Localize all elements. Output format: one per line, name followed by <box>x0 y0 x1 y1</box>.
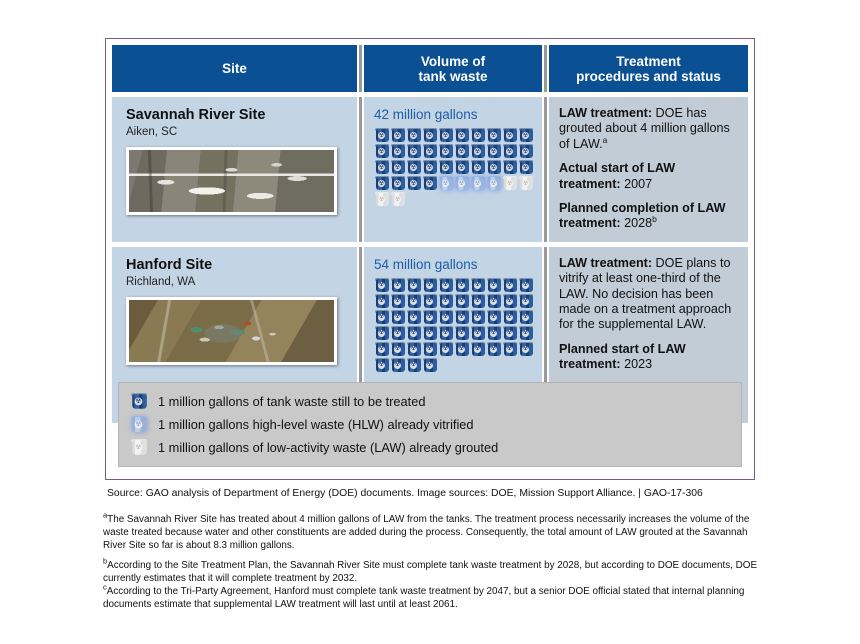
header-divider-2 <box>542 45 549 92</box>
radiation-trefoil-icon: ☢ <box>135 397 143 405</box>
tank-untreated-icon: ☢ <box>406 128 422 143</box>
tank-law-icon: ☢ <box>130 439 148 456</box>
tank-untreated-icon: ☢ <box>502 144 518 159</box>
tank-untreated-icon: ☢ <box>374 326 390 341</box>
radiation-trefoil-icon: ☢ <box>474 164 481 171</box>
radiation-trefoil-icon: ☢ <box>426 346 433 353</box>
tank-untreated-icon: ☢ <box>374 160 390 175</box>
radiation-trefoil-icon: ☢ <box>490 148 497 155</box>
tank-untreated-icon: ☢ <box>422 160 438 175</box>
radiation-trefoil-icon: ☢ <box>474 330 481 337</box>
radiation-trefoil-icon: ☢ <box>522 164 529 171</box>
radiation-trefoil-icon: ☢ <box>474 314 481 321</box>
tank-untreated-icon: ☢ <box>454 128 470 143</box>
site-photo-hanford <box>126 297 337 365</box>
radiation-trefoil-icon: ☢ <box>490 314 497 321</box>
radiation-trefoil-icon: ☢ <box>490 164 497 171</box>
tank-untreated-icon: ☢ <box>454 294 470 309</box>
radiation-trefoil-icon: ☢ <box>426 282 433 289</box>
radiation-trefoil-icon: ☢ <box>394 180 401 187</box>
tank-untreated-icon: ☢ <box>502 278 518 293</box>
tank-untreated-icon: ☢ <box>422 278 438 293</box>
header-divider-1 <box>357 45 364 92</box>
radiation-trefoil-icon: ☢ <box>378 180 385 187</box>
volume-label: 42 million gallons <box>374 107 536 123</box>
tank-untreated-icon: ☢ <box>438 342 454 357</box>
tank-untreated-icon: ☢ <box>374 342 390 357</box>
radiation-trefoil-icon: ☢ <box>394 164 401 171</box>
footnote-marker: b <box>652 214 657 224</box>
radiation-trefoil-icon: ☢ <box>458 330 465 337</box>
radiation-trefoil-icon: ☢ <box>394 132 401 139</box>
radiation-trefoil-icon: ☢ <box>394 196 401 203</box>
tank-untreated-icon: ☢ <box>518 294 534 309</box>
footnote: bAccording to the Site Treatment Plan, t… <box>103 559 758 585</box>
tank-untreated-icon: ☢ <box>374 294 390 309</box>
footnote-marker: a <box>603 135 608 145</box>
radiation-trefoil-icon: ☢ <box>474 298 481 305</box>
tank-untreated-icon: ☢ <box>486 326 502 341</box>
treatment-item: Actual start of LAW treatment: 2007 <box>559 161 736 192</box>
legend-wrapper: ☢1 million gallons of tank waste still t… <box>118 382 742 467</box>
tank-untreated-icon: ☢ <box>130 393 148 410</box>
tank-untreated-icon: ☢ <box>406 326 422 341</box>
tank-law-icon: ☢ <box>502 176 518 191</box>
radiation-trefoil-icon: ☢ <box>490 132 497 139</box>
tank-untreated-icon: ☢ <box>470 160 486 175</box>
tank-hlw-icon: ☢ <box>486 176 502 191</box>
tank-untreated-icon: ☢ <box>518 160 534 175</box>
radiation-trefoil-icon: ☢ <box>442 164 449 171</box>
radiation-trefoil-icon: ☢ <box>410 148 417 155</box>
tank-untreated-icon: ☢ <box>438 128 454 143</box>
radiation-trefoil-icon: ☢ <box>426 180 433 187</box>
radiation-trefoil-icon: ☢ <box>506 314 513 321</box>
tank-law-icon: ☢ <box>518 176 534 191</box>
tank-untreated-icon: ☢ <box>486 342 502 357</box>
tank-untreated-icon: ☢ <box>422 144 438 159</box>
tank-untreated-icon: ☢ <box>390 342 406 357</box>
radiation-trefoil-icon: ☢ <box>426 314 433 321</box>
treatment-item-value: 2028 <box>621 216 653 230</box>
footnote-text: According to the Site Treatment Plan, th… <box>103 560 757 584</box>
treatment-item: LAW treatment: DOE plans to vitrify at l… <box>559 256 736 333</box>
tank-untreated-icon: ☢ <box>406 278 422 293</box>
tank-untreated-icon: ☢ <box>502 160 518 175</box>
tank-untreated-icon: ☢ <box>518 326 534 341</box>
footnote-text: According to the Tri-Party Agreement, Ha… <box>103 586 744 610</box>
gao-figure-frame: Site Volume of tank waste Treatment proc… <box>105 38 755 480</box>
radiation-trefoil-icon: ☢ <box>506 148 513 155</box>
radiation-trefoil-icon: ☢ <box>506 132 513 139</box>
radiation-trefoil-icon: ☢ <box>410 298 417 305</box>
tank-untreated-icon: ☢ <box>454 326 470 341</box>
radiation-trefoil-icon: ☢ <box>378 330 385 337</box>
row-divider-2 <box>542 97 549 242</box>
radiation-trefoil-icon: ☢ <box>490 282 497 289</box>
radiation-trefoil-icon: ☢ <box>522 282 529 289</box>
tank-untreated-icon: ☢ <box>406 310 422 325</box>
tank-untreated-icon: ☢ <box>454 144 470 159</box>
site-location: Richland, WA <box>126 275 345 289</box>
tank-untreated-icon: ☢ <box>470 326 486 341</box>
tank-untreated-icon: ☢ <box>390 294 406 309</box>
column-header-treatment-line2: procedures and status <box>576 69 721 84</box>
legend-item: ☢1 million gallons high-level waste (HLW… <box>131 413 731 436</box>
radiation-trefoil-icon: ☢ <box>474 346 481 353</box>
tank-untreated-icon: ☢ <box>470 128 486 143</box>
tank-icon-grid: ☢☢☢☢☢☢☢☢☢☢☢☢☢☢☢☢☢☢☢☢☢☢☢☢☢☢☢☢☢☢☢☢☢☢☢☢☢☢☢☢… <box>374 278 534 374</box>
legend-item: ☢1 million gallons of low-activity waste… <box>131 436 731 459</box>
radiation-trefoil-icon: ☢ <box>378 132 385 139</box>
radiation-trefoil-icon: ☢ <box>410 330 417 337</box>
tank-untreated-icon: ☢ <box>374 128 390 143</box>
radiation-trefoil-icon: ☢ <box>522 148 529 155</box>
source-line: Source: GAO analysis of Department of En… <box>107 487 807 500</box>
tank-untreated-icon: ☢ <box>390 144 406 159</box>
tank-untreated-icon: ☢ <box>390 310 406 325</box>
tank-untreated-icon: ☢ <box>518 310 534 325</box>
tank-untreated-icon: ☢ <box>374 144 390 159</box>
tank-untreated-icon: ☢ <box>486 278 502 293</box>
radiation-trefoil-icon: ☢ <box>442 298 449 305</box>
footnote: cAccording to the Tri-Party Agreement, H… <box>103 585 758 611</box>
tank-untreated-icon: ☢ <box>422 128 438 143</box>
radiation-trefoil-icon: ☢ <box>426 298 433 305</box>
legend-item-label: 1 million gallons of tank waste still to… <box>158 394 425 409</box>
radiation-trefoil-icon: ☢ <box>506 346 513 353</box>
radiation-trefoil-icon: ☢ <box>458 132 465 139</box>
tank-untreated-icon: ☢ <box>438 294 454 309</box>
radiation-trefoil-icon: ☢ <box>135 420 143 428</box>
radiation-trefoil-icon: ☢ <box>378 298 385 305</box>
tank-untreated-icon: ☢ <box>390 278 406 293</box>
table-header-row: Site Volume of tank waste Treatment proc… <box>112 45 748 92</box>
radiation-trefoil-icon: ☢ <box>426 164 433 171</box>
radiation-trefoil-icon: ☢ <box>378 346 385 353</box>
tank-untreated-icon: ☢ <box>470 278 486 293</box>
tank-untreated-icon: ☢ <box>374 310 390 325</box>
tank-untreated-icon: ☢ <box>374 278 390 293</box>
radiation-trefoil-icon: ☢ <box>522 314 529 321</box>
radiation-trefoil-icon: ☢ <box>135 443 143 451</box>
tank-untreated-icon: ☢ <box>438 310 454 325</box>
radiation-trefoil-icon: ☢ <box>490 298 497 305</box>
tank-untreated-icon: ☢ <box>422 358 438 373</box>
radiation-trefoil-icon: ☢ <box>378 164 385 171</box>
radiation-trefoil-icon: ☢ <box>442 282 449 289</box>
tank-law-icon: ☢ <box>374 192 390 207</box>
tank-hlw-icon: ☢ <box>454 176 470 191</box>
tank-untreated-icon: ☢ <box>406 160 422 175</box>
tank-icon-grid: ☢☢☢☢☢☢☢☢☢☢☢☢☢☢☢☢☢☢☢☢☢☢☢☢☢☢☢☢☢☢☢☢☢☢☢☢☢☢☢☢… <box>374 128 534 208</box>
legend-item: ☢1 million gallons of tank waste still t… <box>131 390 731 413</box>
radiation-trefoil-icon: ☢ <box>426 330 433 337</box>
figure-page: Site Volume of tank waste Treatment proc… <box>0 0 860 644</box>
radiation-trefoil-icon: ☢ <box>522 180 529 187</box>
tank-untreated-icon: ☢ <box>422 176 438 191</box>
radiation-trefoil-icon: ☢ <box>522 298 529 305</box>
tank-untreated-icon: ☢ <box>406 342 422 357</box>
tank-untreated-icon: ☢ <box>518 128 534 143</box>
tank-untreated-icon: ☢ <box>390 176 406 191</box>
radiation-trefoil-icon: ☢ <box>410 314 417 321</box>
radiation-trefoil-icon: ☢ <box>442 314 449 321</box>
radiation-trefoil-icon: ☢ <box>506 164 513 171</box>
radiation-trefoil-icon: ☢ <box>442 148 449 155</box>
footnote-text: The Savannah River Site has treated abou… <box>103 514 749 551</box>
column-header-site: Site <box>112 45 357 92</box>
volume-cell: 42 million gallons ☢☢☢☢☢☢☢☢☢☢☢☢☢☢☢☢☢☢☢☢☢… <box>364 97 542 242</box>
tank-untreated-icon: ☢ <box>518 342 534 357</box>
treatment-item-value: 2007 <box>621 177 653 191</box>
tank-untreated-icon: ☢ <box>454 278 470 293</box>
radiation-trefoil-icon: ☢ <box>378 362 385 369</box>
tank-untreated-icon: ☢ <box>454 310 470 325</box>
tank-untreated-icon: ☢ <box>454 342 470 357</box>
tank-untreated-icon: ☢ <box>470 144 486 159</box>
site-location: Aiken, SC <box>126 125 345 139</box>
tank-untreated-icon: ☢ <box>422 342 438 357</box>
site-name: Hanford Site <box>126 257 345 274</box>
radiation-trefoil-icon: ☢ <box>490 346 497 353</box>
tank-untreated-icon: ☢ <box>502 342 518 357</box>
tank-untreated-icon: ☢ <box>502 326 518 341</box>
radiation-trefoil-icon: ☢ <box>490 330 497 337</box>
legend: ☢1 million gallons of tank waste still t… <box>118 382 742 467</box>
tank-untreated-icon: ☢ <box>390 358 406 373</box>
radiation-trefoil-icon: ☢ <box>410 282 417 289</box>
footnote: aThe Savannah River Site has treated abo… <box>103 513 758 553</box>
tank-untreated-icon: ☢ <box>502 128 518 143</box>
treatment-item-value: 2023 <box>621 357 653 371</box>
tank-untreated-icon: ☢ <box>390 326 406 341</box>
radiation-trefoil-icon: ☢ <box>410 132 417 139</box>
tank-untreated-icon: ☢ <box>406 358 422 373</box>
footnotes: aThe Savannah River Site has treated abo… <box>103 513 758 611</box>
radiation-trefoil-icon: ☢ <box>378 314 385 321</box>
site-photo-savannah-river <box>126 147 337 215</box>
tank-untreated-icon: ☢ <box>486 144 502 159</box>
legend-item-label: 1 million gallons of low-activity waste … <box>158 440 498 455</box>
tank-untreated-icon: ☢ <box>438 326 454 341</box>
row-divider-1 <box>357 97 364 242</box>
radiation-trefoil-icon: ☢ <box>474 132 481 139</box>
radiation-trefoil-icon: ☢ <box>426 362 433 369</box>
radiation-trefoil-icon: ☢ <box>522 132 529 139</box>
tank-untreated-icon: ☢ <box>470 294 486 309</box>
tank-untreated-icon: ☢ <box>486 310 502 325</box>
tank-law-icon: ☢ <box>390 192 406 207</box>
radiation-trefoil-icon: ☢ <box>410 362 417 369</box>
tank-untreated-icon: ☢ <box>486 294 502 309</box>
tank-untreated-icon: ☢ <box>502 294 518 309</box>
radiation-trefoil-icon: ☢ <box>394 148 401 155</box>
tank-hlw-icon: ☢ <box>470 176 486 191</box>
radiation-trefoil-icon: ☢ <box>394 314 401 321</box>
site-name: Savannah River Site <box>126 107 345 124</box>
volume-label: 54 million gallons <box>374 257 536 273</box>
radiation-trefoil-icon: ☢ <box>474 180 481 187</box>
tank-hlw-icon: ☢ <box>130 416 148 433</box>
radiation-trefoil-icon: ☢ <box>458 148 465 155</box>
radiation-trefoil-icon: ☢ <box>394 346 401 353</box>
radiation-trefoil-icon: ☢ <box>506 282 513 289</box>
tank-untreated-icon: ☢ <box>422 326 438 341</box>
tank-untreated-icon: ☢ <box>438 278 454 293</box>
tank-untreated-icon: ☢ <box>406 176 422 191</box>
tank-untreated-icon: ☢ <box>518 278 534 293</box>
column-header-volume-line1: Volume of <box>421 54 485 69</box>
radiation-trefoil-icon: ☢ <box>442 330 449 337</box>
radiation-trefoil-icon: ☢ <box>442 346 449 353</box>
radiation-trefoil-icon: ☢ <box>378 282 385 289</box>
radiation-trefoil-icon: ☢ <box>458 298 465 305</box>
site-cell: Savannah River Site Aiken, SC <box>112 97 357 242</box>
radiation-trefoil-icon: ☢ <box>458 282 465 289</box>
column-header-treatment: Treatment procedures and status <box>549 45 748 92</box>
radiation-trefoil-icon: ☢ <box>378 196 385 203</box>
radiation-trefoil-icon: ☢ <box>458 180 465 187</box>
radiation-trefoil-icon: ☢ <box>458 314 465 321</box>
radiation-trefoil-icon: ☢ <box>522 330 529 337</box>
radiation-trefoil-icon: ☢ <box>522 346 529 353</box>
radiation-trefoil-icon: ☢ <box>410 180 417 187</box>
radiation-trefoil-icon: ☢ <box>410 164 417 171</box>
treatment-item-label: Actual start of LAW treatment: <box>559 161 675 190</box>
tank-untreated-icon: ☢ <box>470 342 486 357</box>
treatment-item: Planned completion of LAW treatment: 202… <box>559 201 736 232</box>
tank-untreated-icon: ☢ <box>486 128 502 143</box>
tank-untreated-icon: ☢ <box>486 160 502 175</box>
radiation-trefoil-icon: ☢ <box>474 282 481 289</box>
treatment-item: LAW treatment: DOE has grouted about 4 m… <box>559 106 736 152</box>
radiation-trefoil-icon: ☢ <box>410 346 417 353</box>
column-header-site-label: Site <box>222 61 247 76</box>
radiation-trefoil-icon: ☢ <box>474 148 481 155</box>
column-header-treatment-line1: Treatment <box>616 54 681 69</box>
radiation-trefoil-icon: ☢ <box>458 346 465 353</box>
radiation-trefoil-icon: ☢ <box>442 132 449 139</box>
radiation-trefoil-icon: ☢ <box>394 330 401 337</box>
tank-untreated-icon: ☢ <box>374 358 390 373</box>
radiation-trefoil-icon: ☢ <box>426 148 433 155</box>
radiation-trefoil-icon: ☢ <box>490 180 497 187</box>
legend-item-label: 1 million gallons high-level waste (HLW)… <box>158 417 474 432</box>
radiation-trefoil-icon: ☢ <box>394 282 401 289</box>
radiation-trefoil-icon: ☢ <box>458 164 465 171</box>
treatment-item-label: LAW treatment: <box>559 106 652 120</box>
tank-untreated-icon: ☢ <box>422 310 438 325</box>
tank-untreated-icon: ☢ <box>374 176 390 191</box>
tank-untreated-icon: ☢ <box>518 144 534 159</box>
radiation-trefoil-icon: ☢ <box>506 180 513 187</box>
tank-untreated-icon: ☢ <box>470 310 486 325</box>
radiation-trefoil-icon: ☢ <box>394 362 401 369</box>
table-row: Savannah River Site Aiken, SC 42 million… <box>112 97 748 242</box>
tank-untreated-icon: ☢ <box>406 144 422 159</box>
column-header-volume-line2: tank waste <box>418 69 487 84</box>
tank-untreated-icon: ☢ <box>502 310 518 325</box>
tank-untreated-icon: ☢ <box>438 160 454 175</box>
tank-untreated-icon: ☢ <box>422 294 438 309</box>
radiation-trefoil-icon: ☢ <box>394 298 401 305</box>
tank-untreated-icon: ☢ <box>390 160 406 175</box>
tank-untreated-icon: ☢ <box>438 144 454 159</box>
column-header-volume: Volume of tank waste <box>364 45 542 92</box>
treatment-item: Planned start of LAW treatment: 2023 <box>559 342 736 373</box>
radiation-trefoil-icon: ☢ <box>442 180 449 187</box>
tank-untreated-icon: ☢ <box>406 294 422 309</box>
tank-hlw-icon: ☢ <box>438 176 454 191</box>
radiation-trefoil-icon: ☢ <box>506 330 513 337</box>
treatment-item-label: LAW treatment: <box>559 256 652 270</box>
treatment-cell: LAW treatment: DOE has grouted about 4 m… <box>549 97 748 242</box>
radiation-trefoil-icon: ☢ <box>378 148 385 155</box>
radiation-trefoil-icon: ☢ <box>426 132 433 139</box>
radiation-trefoil-icon: ☢ <box>506 298 513 305</box>
tank-untreated-icon: ☢ <box>454 160 470 175</box>
tank-untreated-icon: ☢ <box>390 128 406 143</box>
